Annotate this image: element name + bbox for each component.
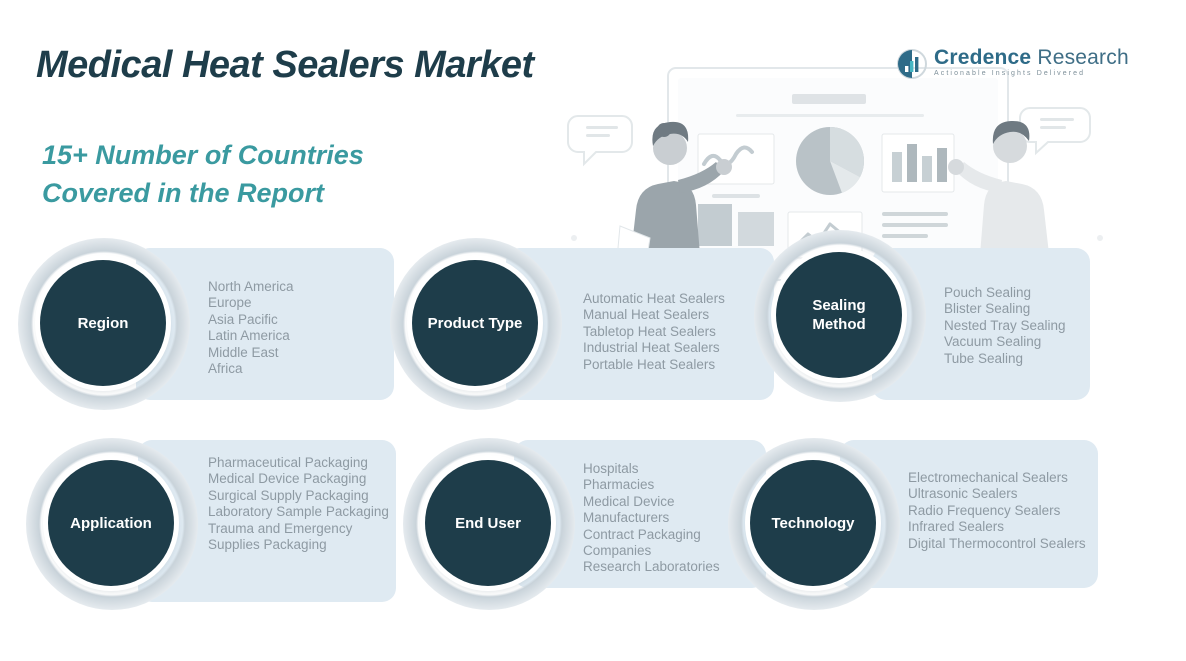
segment-circle-technology[interactable]: Technology (750, 460, 876, 586)
segment-label-region: Region (78, 314, 129, 333)
subtitle-line-1: 15+ Number of Countries (42, 140, 364, 170)
segment-circle-application[interactable]: Application (48, 460, 174, 586)
segment-circle-sealing-method[interactable]: Sealing Method (776, 252, 902, 378)
page-title: Medical Heat Sealers Market (36, 44, 534, 87)
segment-items-region: North America Europe Asia Pacific Latin … (208, 279, 388, 377)
credence-research-logo[interactable]: Credence Research Actionable Insights De… (897, 47, 1129, 80)
segment-label-sealing-method: Sealing Method (812, 296, 865, 334)
logo-brand-secondary: Research (1037, 46, 1128, 69)
logo-brand-primary: Credence (934, 46, 1031, 69)
segment-circle-region[interactable]: Region (40, 260, 166, 386)
segment-circle-end-user[interactable]: End User (425, 460, 551, 586)
segment-label-application: Application (70, 514, 152, 533)
segment-items-product-type: Automatic Heat Sealers Manual Heat Seale… (583, 291, 773, 373)
infographic-canvas: Medical Heat Sealers Market 15+ Number o… (0, 0, 1186, 661)
segment-label-end-user: End User (455, 514, 521, 533)
segment-label-technology: Technology (771, 514, 854, 533)
segment-label-product-type: Product Type (428, 314, 523, 333)
subtitle-line-2: Covered in the Report (42, 174, 364, 212)
segment-items-sealing-method: Pouch Sealing Blister Sealing Nested Tra… (944, 285, 1094, 367)
segment-items-application: Pharmaceutical Packaging Medical Device … (208, 455, 394, 553)
subtitle: 15+ Number of Countries Covered in the R… (42, 136, 364, 212)
bar-chart-circle-icon (897, 49, 927, 79)
segment-items-technology: Electromechanical Sealers Ultrasonic Sea… (908, 470, 1096, 552)
logo-tagline: Actionable Insights Delivered (934, 68, 1129, 80)
logo-text: Credence Research Actionable Insights De… (934, 47, 1129, 80)
logo-brand: Credence Research (934, 47, 1129, 68)
segment-circle-product-type[interactable]: Product Type (412, 260, 538, 386)
segment-items-end-user: Hospitals Pharmacies Medical Device Manu… (583, 461, 748, 576)
